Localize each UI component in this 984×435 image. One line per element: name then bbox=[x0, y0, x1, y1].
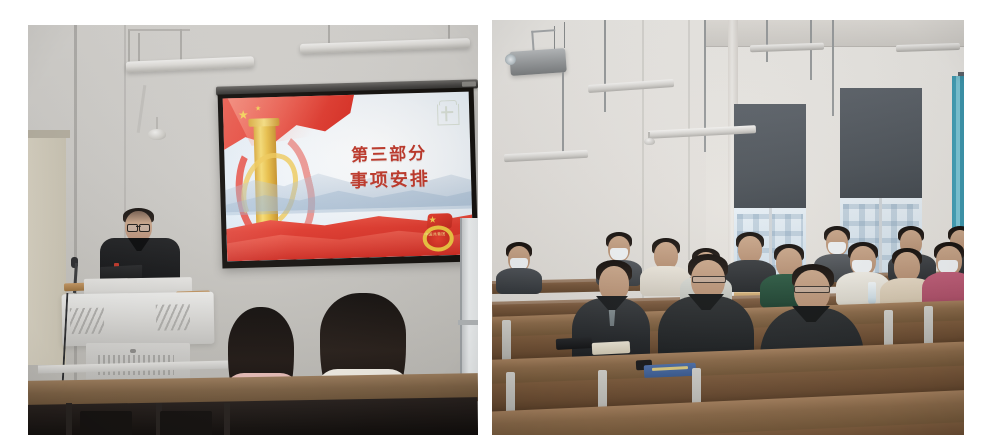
lectern-vent-left bbox=[70, 308, 104, 335]
light-drop-wire bbox=[766, 20, 768, 62]
glasses-icon bbox=[692, 276, 726, 283]
chair-back bbox=[160, 411, 212, 435]
photo-left-presentation[interactable]: ★ ★ bbox=[28, 25, 478, 435]
seat-divider bbox=[502, 320, 511, 364]
ceiling-projector bbox=[509, 48, 567, 76]
wall-panel-line bbox=[688, 20, 690, 260]
slide-title-block: 第三部分 事项安排 bbox=[327, 141, 451, 195]
flag-star-small-icon: ★ bbox=[255, 106, 261, 112]
light-stem bbox=[138, 33, 140, 61]
projection-screen[interactable]: ★ ★ bbox=[218, 87, 478, 268]
security-camera-icon bbox=[148, 129, 166, 140]
emblem-star-icon: ★ bbox=[428, 216, 436, 225]
slide-title-line-1: 第三部分 bbox=[327, 141, 451, 169]
slide-title-line-2: 事项安排 bbox=[328, 166, 452, 196]
presenter-glasses-icon bbox=[127, 224, 150, 230]
whiteboard-marker-tray bbox=[458, 320, 478, 325]
glasses-icon bbox=[794, 286, 830, 293]
emblem-label: 中国共青团 bbox=[424, 231, 445, 238]
face-mask-icon bbox=[828, 242, 846, 254]
slide-canvas: ★ ★ bbox=[223, 92, 473, 262]
chair-back bbox=[80, 411, 132, 435]
window-blind[interactable] bbox=[840, 88, 922, 198]
wall-beige-panel-trim bbox=[28, 130, 70, 138]
window-blind[interactable] bbox=[734, 104, 806, 208]
lectern-knob bbox=[130, 349, 136, 353]
institution-logo-watermark-icon bbox=[437, 100, 458, 125]
wall-beige-panel bbox=[28, 135, 66, 365]
communist-youth-league-emblem-icon: ★ 中国共青团 bbox=[415, 213, 456, 246]
roller-end-cap bbox=[462, 81, 476, 86]
light-stem bbox=[328, 25, 330, 43]
notebook-black bbox=[556, 337, 593, 350]
attendee-torso bbox=[496, 268, 542, 294]
light-drop-wire bbox=[562, 72, 564, 158]
screenshot-canvas: ★ ★ bbox=[0, 0, 984, 435]
lectern-body bbox=[62, 292, 215, 347]
water-bottle bbox=[868, 282, 876, 304]
photo-right-audience[interactable]: attendee-front-left attendee-front-cente… bbox=[492, 20, 964, 435]
glasses-lens-right bbox=[139, 224, 150, 232]
lectern-wood-trim-left bbox=[64, 283, 86, 292]
light-stem bbox=[180, 29, 182, 61]
slide-monument-cap bbox=[248, 118, 279, 127]
light-drop-wire bbox=[604, 20, 606, 112]
logo-body bbox=[437, 104, 460, 126]
ceiling-beam bbox=[706, 20, 964, 47]
notebook-cream bbox=[592, 341, 631, 355]
desk-leg bbox=[224, 403, 230, 435]
lectern-vent-right bbox=[156, 304, 190, 331]
security-camera-icon bbox=[644, 138, 655, 145]
desk-leg bbox=[66, 403, 72, 435]
whiteboard bbox=[460, 218, 478, 398]
face-mask-icon bbox=[610, 248, 628, 260]
light-drop-wire bbox=[832, 20, 834, 116]
